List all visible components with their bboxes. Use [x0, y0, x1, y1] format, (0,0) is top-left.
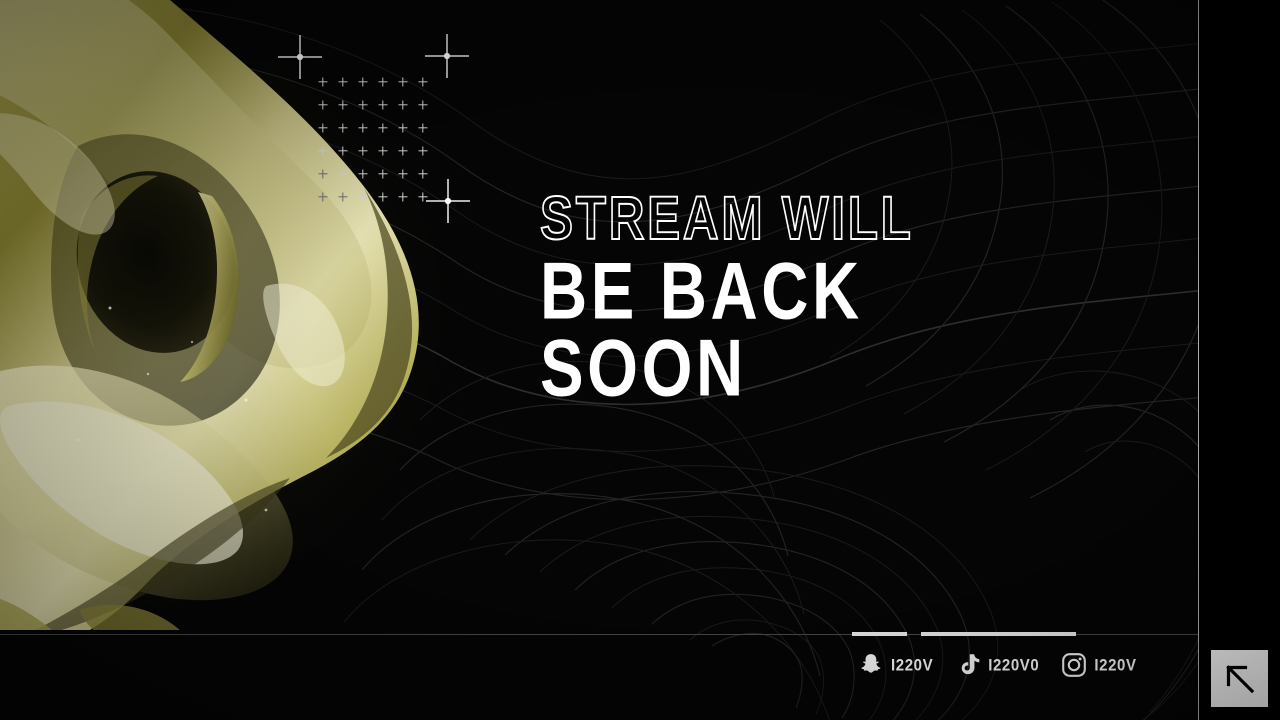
plus-icon [313, 185, 333, 208]
plus-icon [393, 116, 413, 139]
instagram-icon [1061, 652, 1087, 678]
arrow-up-left-icon [1223, 662, 1257, 696]
plus-icon [333, 162, 353, 185]
arrow-up-left-button[interactable] [1211, 650, 1268, 707]
divider-accent-segment-1 [852, 632, 907, 636]
social-link-tiktok[interactable]: I220V0 [955, 652, 1039, 678]
right-side-panel [1199, 0, 1280, 720]
plus-icon [333, 139, 353, 162]
plus-icon [373, 70, 393, 93]
headline-line-3: SOON [540, 331, 1174, 406]
plus-icon [413, 139, 433, 162]
decorative-plus-grid [313, 70, 433, 208]
plus-icon [313, 139, 333, 162]
plus-icon [313, 93, 333, 116]
divider-accent-segment-2 [921, 632, 1076, 636]
plus-icon [373, 93, 393, 116]
plus-icon [373, 185, 393, 208]
social-link-instagram[interactable]: I220V [1061, 652, 1136, 678]
plus-icon [353, 162, 373, 185]
snapchat-icon [858, 652, 884, 678]
plus-icon [333, 70, 353, 93]
headline-block: STREAM WILL BE BACK SOON [540, 190, 1180, 392]
tiktok-icon [955, 652, 981, 678]
social-handle-tiktok: I220V0 [988, 655, 1039, 674]
plus-icon [313, 116, 333, 139]
plus-icon [333, 116, 353, 139]
plus-icon [393, 93, 413, 116]
sparkle-icon [425, 178, 471, 224]
social-links-bar: I220V I220V0 I220V [858, 652, 1137, 678]
social-link-snapchat[interactable]: I220V [858, 652, 933, 678]
plus-icon [393, 185, 413, 208]
plus-icon [373, 116, 393, 139]
plus-icon [333, 93, 353, 116]
right-vertical-rule [1198, 0, 1199, 720]
plus-icon [393, 70, 413, 93]
sparkle-icon [424, 33, 470, 79]
plus-icon [313, 162, 333, 185]
plus-icon [353, 70, 373, 93]
plus-icon [373, 162, 393, 185]
plus-icon [413, 93, 433, 116]
plus-icon [353, 116, 373, 139]
plus-icon [353, 139, 373, 162]
plus-icon [353, 185, 373, 208]
plus-icon [353, 93, 373, 116]
plus-icon [413, 116, 433, 139]
plus-icon [393, 139, 413, 162]
sparkle-icon [277, 34, 323, 80]
stream-offline-screen: STREAM WILL BE BACK SOON I220V I220V0 [0, 0, 1280, 720]
social-handle-snapchat: I220V [891, 655, 933, 674]
social-handle-instagram: I220V [1094, 655, 1136, 674]
headline-line-1: STREAM WILL [540, 190, 1174, 247]
headline-line-2: BE BACK [540, 254, 1174, 329]
plus-icon [393, 162, 413, 185]
plus-icon [373, 139, 393, 162]
plus-icon [333, 185, 353, 208]
